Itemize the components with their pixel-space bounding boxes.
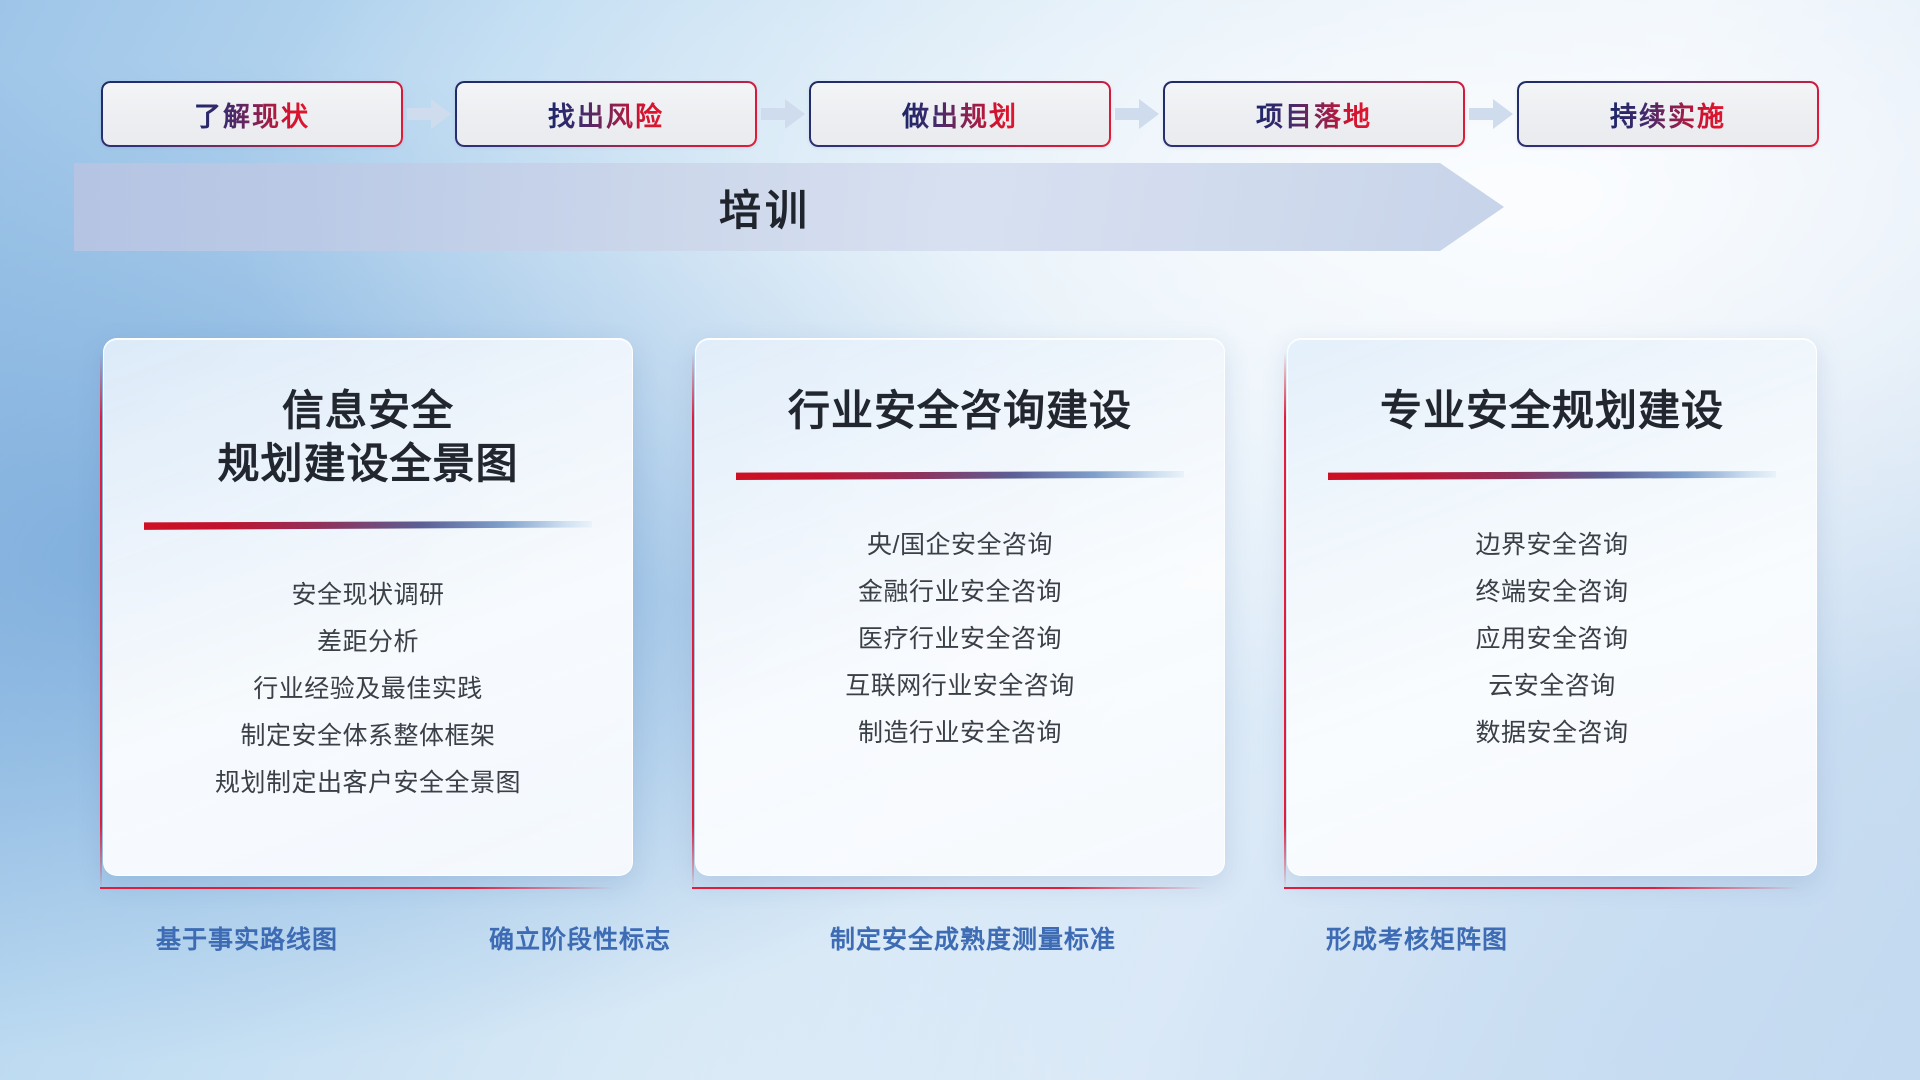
slide-background: 了解现状 找出风险 做出规划 项目落地 xyxy=(0,0,1920,1080)
list-item: 制造行业安全咨询 xyxy=(858,710,1062,757)
step-box-1[interactable]: 了解现状 xyxy=(101,81,403,147)
card-1[interactable]: 信息安全 规划建设全景图 安全现状调研 差距分析 行业经验及最佳实践 制定安全体… xyxy=(103,338,633,876)
arrow-right-icon-1 xyxy=(403,81,455,147)
banner-title: 培训 xyxy=(74,163,1504,251)
outcome-label-row: 基于事实路线图 确立阶段性标志 制定安全成熟度测量标准 形成考核矩阵图 xyxy=(0,920,1920,960)
card-1-title: 信息安全 规划建设全景图 xyxy=(144,385,592,491)
card-2[interactable]: 行业安全咨询建设 央/国企安全咨询 金融行业安全咨询 医疗行业安全咨询 互联网行… xyxy=(695,338,1225,876)
list-item: 云安全咨询 xyxy=(1488,663,1616,710)
list-item: 互联网行业安全咨询 xyxy=(845,663,1075,710)
card-2-list: 央/国企安全咨询 金融行业安全咨询 医疗行业安全咨询 互联网行业安全咨询 制造行… xyxy=(736,522,1184,757)
list-item: 医疗行业安全咨询 xyxy=(858,616,1062,663)
list-item: 安全现状调研 xyxy=(291,572,444,619)
list-item: 规划制定出客户安全全景图 xyxy=(215,760,521,807)
card-3-title: 专业安全规划建设 xyxy=(1328,385,1776,441)
step-box-3[interactable]: 做出规划 xyxy=(809,81,1111,147)
card-2-divider xyxy=(736,471,1184,480)
card-2-title: 行业安全咨询建设 xyxy=(736,385,1184,441)
list-item: 终端安全咨询 xyxy=(1475,569,1628,616)
process-step-flow: 了解现状 找出风险 做出规划 项目落地 xyxy=(0,79,1920,149)
step-box-4[interactable]: 项目落地 xyxy=(1163,81,1465,147)
list-item: 应用安全咨询 xyxy=(1475,616,1628,663)
card-3-divider xyxy=(1328,471,1776,480)
list-item: 金融行业安全咨询 xyxy=(858,569,1062,616)
card-group: 信息安全 规划建设全景图 安全现状调研 差距分析 行业经验及最佳实践 制定安全体… xyxy=(0,338,1920,888)
step-label-4: 项目落地 xyxy=(1256,95,1372,134)
step-label-1: 了解现状 xyxy=(194,95,310,134)
list-item: 央/国企安全咨询 xyxy=(867,522,1053,569)
arrow-right-icon-4 xyxy=(1465,81,1517,147)
step-label-2: 找出风险 xyxy=(548,95,664,134)
arrow-right-icon-3 xyxy=(1111,81,1163,147)
card-3-list: 边界安全咨询 终端安全咨询 应用安全咨询 云安全咨询 数据安全咨询 xyxy=(1328,522,1776,757)
list-item: 差距分析 xyxy=(317,619,419,666)
outcome-label-4: 形成考核矩阵图 xyxy=(1326,920,1508,956)
list-item: 数据安全咨询 xyxy=(1475,710,1628,757)
step-label-3: 做出规划 xyxy=(902,95,1018,134)
step-box-2[interactable]: 找出风险 xyxy=(455,81,757,147)
list-item: 行业经验及最佳实践 xyxy=(253,666,483,713)
arrow-right-icon-2 xyxy=(757,81,809,147)
outcome-label-2: 确立阶段性标志 xyxy=(489,920,671,956)
step-box-5[interactable]: 持续实施 xyxy=(1517,81,1819,147)
training-banner: 培训 xyxy=(74,163,1504,251)
step-label-5: 持续实施 xyxy=(1610,95,1726,134)
outcome-label-1: 基于事实路线图 xyxy=(156,920,338,956)
card-3[interactable]: 专业安全规划建设 边界安全咨询 终端安全咨询 应用安全咨询 云安全咨询 数据安全… xyxy=(1287,338,1817,876)
card-1-divider xyxy=(144,521,592,530)
outcome-label-3: 制定安全成熟度测量标准 xyxy=(830,920,1116,956)
list-item: 制定安全体系整体框架 xyxy=(240,713,495,760)
list-item: 边界安全咨询 xyxy=(1475,522,1628,569)
card-1-list: 安全现状调研 差距分析 行业经验及最佳实践 制定安全体系整体框架 规划制定出客户… xyxy=(144,572,592,807)
